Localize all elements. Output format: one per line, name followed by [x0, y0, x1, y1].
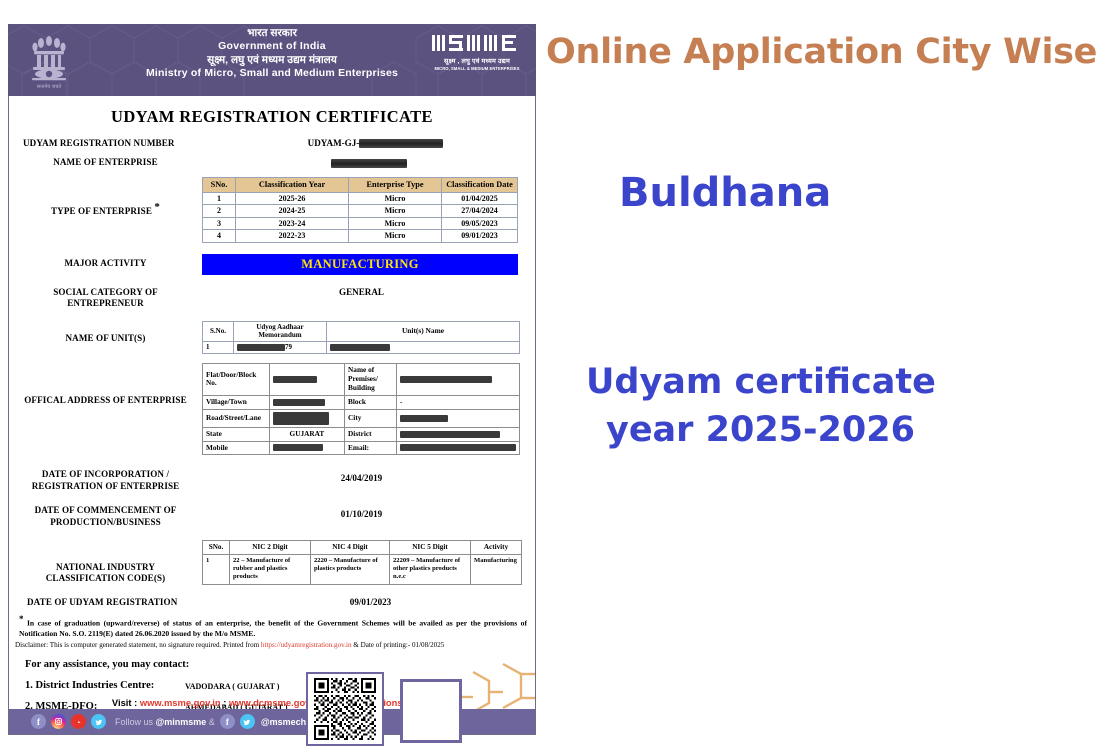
- follow-text: Follow us @minmsme &: [115, 717, 215, 727]
- table-row: 1 22 – Manufacture of rubber and plastic…: [203, 554, 522, 584]
- label-social-category: SOCIAL CATEGORY OFENTREPRENEUR: [9, 285, 202, 310]
- addr-val-mobile: [269, 441, 344, 455]
- value-registration-number: UDYAM-GJ-: [216, 136, 535, 148]
- row-major-activity: MAJOR ACTIVITY MANUFACTURING: [9, 254, 535, 275]
- disclaimer-line: Disclaimer: This is computer generated s…: [9, 641, 535, 650]
- addr-key-city: City: [345, 409, 397, 427]
- redacted-city: [400, 415, 448, 422]
- table-row: State GUJARAT District: [203, 427, 520, 441]
- label-type-of-enterprise: TYPE OF ENTERPRISE *: [9, 177, 202, 217]
- addr-key-state: State: [203, 427, 270, 441]
- cell-sno: 4: [203, 230, 236, 243]
- graduation-footnote: * In case of graduation (upward/reverse)…: [9, 613, 535, 639]
- major-activity-banner: MANUFACTURING: [202, 254, 518, 275]
- addr-key-email: Email:: [345, 441, 397, 455]
- instagram-icon[interactable]: [51, 714, 66, 729]
- nic-table-wrap: SNo. NIC 2 Digit NIC 4 Digit NIC 5 Digit…: [202, 540, 535, 585]
- addr-val-state: GUJARAT: [269, 427, 344, 441]
- th-classification-year: Classification Year: [236, 177, 349, 192]
- cell-type: Micro: [349, 192, 442, 205]
- redacted-flat-no: [273, 376, 317, 383]
- cell-nic-sno: 1: [203, 554, 230, 584]
- table-row: 3 2023-24 Micro 09/05/2023: [203, 217, 518, 230]
- table-header-row: SNo. NIC 2 Digit NIC 4 Digit NIC 5 Digit…: [203, 540, 522, 554]
- panel-subtitle-line1: Udyam certificate: [586, 362, 936, 402]
- disclaimer-link[interactable]: https://udyamregistration.gov.in: [261, 641, 352, 649]
- redacted-unit-name: [330, 344, 390, 351]
- cell-type: Micro: [349, 205, 442, 218]
- addr-val-village: [269, 395, 344, 409]
- youtube-icon[interactable]: [71, 714, 86, 729]
- addr-key-block: Block: [345, 395, 397, 409]
- addr-val-road: [269, 409, 344, 427]
- cell-nic-2digit: 22 – Manufacture of rubber and plastics …: [230, 554, 311, 584]
- msme-logo: सूक्ष्म , लघु एवं मध्यम उद्यम MICRO, SMA…: [430, 32, 524, 71]
- address-table-wrap: Flat/Door/Block No. Name of Premises/ Bu…: [202, 363, 535, 455]
- table-header-row: SNo. Classification Year Enterprise Type…: [203, 177, 518, 192]
- th-udyog-aadhaar: Udyog Aadhaar Memorandum: [234, 321, 327, 341]
- certificate-title: UDYAM REGISTRATION CERTIFICATE: [9, 107, 535, 127]
- twitter-glyph-icon: [242, 717, 252, 727]
- addr-val-flat: [269, 364, 344, 396]
- redacted-mobile: [273, 444, 323, 451]
- units-table-wrap: S.No. Udyog Aadhaar Memorandum Unit(s) N…: [202, 321, 535, 354]
- panel-city-name: Buldhana: [619, 170, 831, 216]
- row-nic: NATIONAL INDUSTRYCLASSIFICATION CODE(S) …: [9, 540, 535, 585]
- redacted-udyog-aadhaar: [237, 344, 285, 351]
- cell-type: Micro: [349, 217, 442, 230]
- th-nic-4digit: NIC 4 Digit: [311, 540, 390, 554]
- udyog-aadhaar-suffix: 79: [285, 343, 292, 351]
- value-social-category: GENERAL: [202, 285, 535, 297]
- udyam-certificate: सत्यमेव जयते भारत सरकार Government of In…: [8, 24, 536, 736]
- th-unit-name: Unit(s) Name: [327, 321, 520, 341]
- cell-year: 2022-23: [236, 230, 349, 243]
- cell-type: Micro: [349, 230, 442, 243]
- th-enterprise-type: Enterprise Type: [349, 177, 442, 192]
- follow-amp: &: [206, 717, 215, 727]
- twitter-icon[interactable]: [240, 714, 255, 729]
- row-date-commencement: DATE OF COMMENCEMENT OFPRODUCTION/BUSINE…: [9, 503, 535, 528]
- certificate-masthead: सत्यमेव जयते भारत सरकार Government of In…: [8, 24, 536, 96]
- footnote-asterisk: *: [19, 614, 24, 624]
- label-enterprise-name: NAME OF ENTERPRISE: [9, 155, 202, 168]
- blank-overlay-box: [400, 679, 462, 743]
- addr-key-village: Village/Town: [203, 395, 270, 409]
- addr-val-premises: [397, 364, 520, 396]
- instagram-glyph-icon: [54, 717, 63, 726]
- addr-key-road: Road/Street/Lane: [203, 409, 270, 427]
- table-row: 1 79: [203, 341, 520, 354]
- label-registration-number: UDYAM REGISTRATION NUMBER: [9, 136, 216, 149]
- row-official-address: OFFICAL ADDRESS OF ENTERPRISE Flat/Door/…: [9, 363, 535, 455]
- table-row: Road/Street/Lane City: [203, 409, 520, 427]
- panel-subtitle: Udyam certificate year 2025-2026: [586, 358, 936, 455]
- value-date-commencement: 01/10/2019: [202, 503, 535, 519]
- cell-date: 09/05/2023: [442, 217, 518, 230]
- th-nic-sno: SNo.: [203, 540, 230, 554]
- cell-nic-5digit: 22209 – Manufacture of other plastics pr…: [390, 554, 471, 584]
- contact-value-dic: VADODARA ( GUJARAT ): [185, 680, 279, 691]
- major-activity-wrap: MANUFACTURING: [202, 254, 535, 275]
- classification-table: SNo. Classification Year Enterprise Type…: [202, 177, 518, 243]
- addr-val-city: [397, 409, 520, 427]
- addr-val-email: [397, 441, 520, 455]
- msme-wordmark-icon: [430, 32, 524, 54]
- twitter-icon[interactable]: [91, 714, 106, 729]
- classification-table-wrap: SNo. Classification Year Enterprise Type…: [202, 177, 535, 243]
- cell-sno: 1: [203, 192, 236, 205]
- handle-minmsme[interactable]: @minmsme: [156, 717, 207, 727]
- address-table: Flat/Door/Block No. Name of Premises/ Bu…: [202, 363, 520, 455]
- table-row: Flat/Door/Block No. Name of Premises/ Bu…: [203, 364, 520, 396]
- emblem-caption: सत्यमेव जयते: [37, 83, 62, 90]
- value-enterprise-name: [202, 155, 535, 167]
- value-date-incorporation: 24/04/2019: [202, 467, 535, 483]
- th-nic-2digit: NIC 2 Digit: [230, 540, 311, 554]
- redacted-enterprise-name: [331, 159, 407, 168]
- cell-date: 01/04/2025: [442, 192, 518, 205]
- cell-unit-name: [327, 341, 520, 354]
- th-unit-sno: S.No.: [203, 321, 234, 341]
- table-row: 4 2022-23 Micro 09/01/2023: [203, 230, 518, 243]
- follow-prefix: Follow us: [115, 717, 156, 727]
- redacted-premises: [400, 376, 492, 383]
- th-nic-5digit: NIC 5 Digit: [390, 540, 471, 554]
- disclaimer-post: & Date of printing:- 01/08/2025: [352, 641, 445, 649]
- certificate-body: UDYAM REGISTRATION CERTIFICATE UDYAM REG…: [8, 96, 536, 735]
- row-registration-number: UDYAM REGISTRATION NUMBER UDYAM-GJ-: [9, 136, 535, 149]
- registration-number-prefix: UDYAM-GJ-: [308, 138, 360, 148]
- row-name-of-units: NAME OF UNIT(S) S.No. Udyog Aadhaar Memo…: [9, 321, 535, 354]
- label-date-udyam-registration: DATE OF UDYAM REGISTRATION: [9, 595, 220, 608]
- th-nic-activity: Activity: [471, 540, 522, 554]
- cell-nic-4digit: 2220 – Manufacture of plastics products: [311, 554, 390, 584]
- cell-date: 09/01/2023: [442, 230, 518, 243]
- table-row: Village/Town Block -: [203, 395, 520, 409]
- qr-code-icon: [312, 678, 378, 740]
- label-type-of-enterprise-text: TYPE OF ENTERPRISE: [51, 206, 152, 216]
- visit-link-1[interactable]: www.msme.gov.in: [140, 697, 221, 708]
- label-official-address: OFFICAL ADDRESS OF ENTERPRISE: [9, 363, 202, 406]
- label-major-activity: MAJOR ACTIVITY: [9, 254, 202, 269]
- table-row: Mobile Email:: [203, 441, 520, 455]
- visit-sep-1: ;: [221, 697, 229, 708]
- th-classification-date: Classification Date: [442, 177, 518, 192]
- th-sno: SNo.: [203, 177, 236, 192]
- row-type-of-enterprise: TYPE OF ENTERPRISE * SNo. Classification…: [9, 177, 535, 243]
- right-panel: Online Application City Wise Buldhana Ud…: [536, 0, 1116, 753]
- units-table: S.No. Udyog Aadhaar Memorandum Unit(s) N…: [202, 321, 520, 354]
- cell-year: 2024-25: [236, 205, 349, 218]
- table-row: 2 2024-25 Micro 27/04/2024: [203, 205, 518, 218]
- redacted-email: [400, 444, 516, 451]
- twitter-glyph-icon: [94, 717, 104, 727]
- cell-year: 2023-24: [236, 217, 349, 230]
- cell-date: 27/04/2024: [442, 205, 518, 218]
- row-enterprise-name: NAME OF ENTERPRISE: [9, 155, 535, 168]
- footnote-text: In case of graduation (upward/reverse) o…: [19, 619, 527, 638]
- redacted-road: [273, 412, 329, 425]
- cell-year: 2025-26: [236, 192, 349, 205]
- disclaimer-pre: Disclaimer: This is computer generated s…: [15, 641, 261, 649]
- addr-val-block: -: [397, 395, 520, 409]
- label-name-of-units: NAME OF UNIT(S): [9, 321, 202, 344]
- table-header-row: S.No. Udyog Aadhaar Memorandum Unit(s) N…: [203, 321, 520, 341]
- row-social-category: SOCIAL CATEGORY OFENTREPRENEUR GENERAL: [9, 285, 535, 310]
- row-date-incorporation: DATE OF INCORPORATION /REGISTRATION OF E…: [9, 467, 535, 492]
- addr-key-mobile: Mobile: [203, 441, 270, 455]
- cell-nic-activity: Manufacturing: [471, 554, 522, 584]
- panel-title: Online Application City Wise: [546, 32, 1097, 72]
- cell-sno: 2: [203, 205, 236, 218]
- label-date-commencement: DATE OF COMMENCEMENT OFPRODUCTION/BUSINE…: [9, 503, 202, 528]
- youtube-glyph-icon: [74, 717, 84, 727]
- addr-key-flat: Flat/Door/Block No.: [203, 364, 270, 396]
- cell-unit-sno: 1: [203, 341, 234, 354]
- msme-logo-english: MICRO, SMALL & MEDIUM ENTERPRISES: [430, 66, 524, 71]
- value-date-udyam-registration: 09/01/2023: [220, 595, 535, 607]
- redacted-registration-number: [359, 139, 443, 148]
- qr-code-overlay: [306, 672, 384, 746]
- addr-key-district: District: [345, 427, 397, 441]
- addr-key-premises: Name of Premises/ Building: [345, 364, 397, 396]
- table-row: 1 2025-26 Micro 01/04/2025: [203, 192, 518, 205]
- facebook-icon[interactable]: f: [31, 714, 46, 729]
- panel-subtitle-line2: year 2025-2026: [586, 406, 936, 454]
- row-date-udyam-registration: DATE OF UDYAM REGISTRATION 09/01/2023: [9, 595, 535, 608]
- assistance-heading: For any assistance, you may contact:: [9, 659, 535, 670]
- redacted-village: [273, 399, 325, 406]
- label-date-incorporation: DATE OF INCORPORATION /REGISTRATION OF E…: [9, 467, 202, 492]
- msme-logo-hindi: सूक्ष्म , लघु एवं मध्यम उद्यम: [430, 56, 524, 65]
- label-nic: NATIONAL INDUSTRYCLASSIFICATION CODE(S): [9, 540, 202, 585]
- nic-table: SNo. NIC 2 Digit NIC 4 Digit NIC 5 Digit…: [202, 540, 522, 585]
- visit-prefix: Visit :: [112, 697, 140, 708]
- facebook-icon[interactable]: f: [220, 714, 235, 729]
- cell-sno: 3: [203, 217, 236, 230]
- redacted-district: [400, 431, 500, 438]
- cell-udyog-aadhaar: 79: [234, 341, 327, 354]
- contact-label-dic: 1. District Industries Centre:: [25, 680, 185, 691]
- addr-val-district: [397, 427, 520, 441]
